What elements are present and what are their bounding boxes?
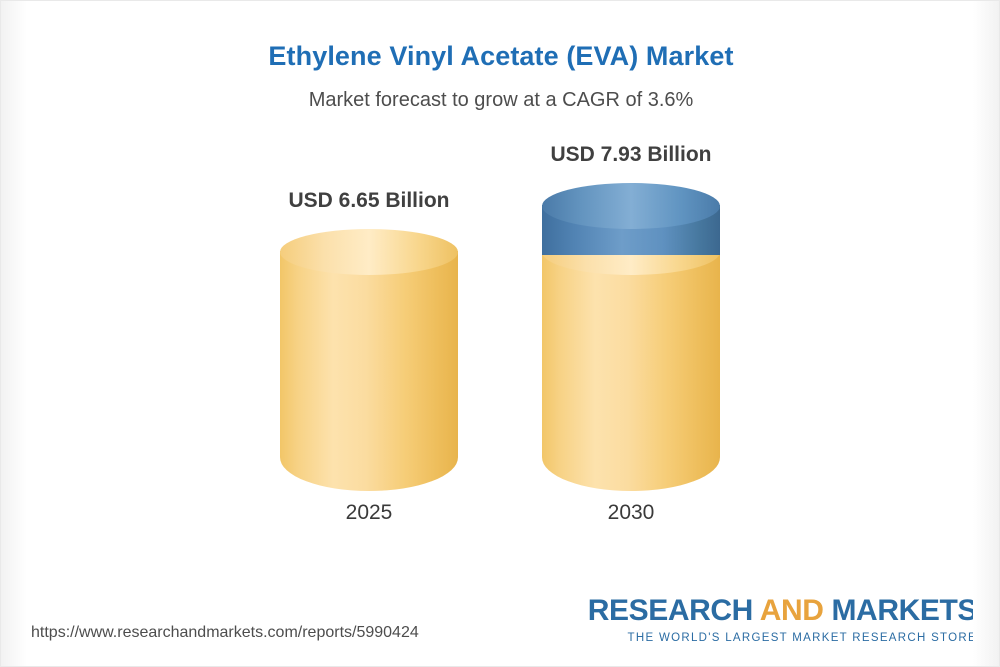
source-url[interactable]: https://www.researchandmarkets.com/repor… xyxy=(31,624,419,642)
chart-area: USD 6.65 Billion 2025 USD 7.93 Billion 2… xyxy=(1,141,1000,581)
brand-logo-markets: MARKETS xyxy=(824,594,977,627)
brand-logo-and: AND xyxy=(760,594,824,627)
cylinder-2025-body xyxy=(280,251,458,491)
bar-value-2025: USD 6.65 Billion xyxy=(249,189,489,213)
brand-logo-tagline: THE WORLD'S LARGEST MARKET RESEARCH STOR… xyxy=(588,633,977,645)
bar-group-2030: USD 7.93 Billion 2030 xyxy=(511,143,751,525)
brand-logo-wordmark: RESEARCH AND MARKETS xyxy=(588,596,977,626)
cylinder-2025-top xyxy=(280,229,458,275)
cylinder-2030-base-body xyxy=(542,251,720,491)
bar-value-2030: USD 7.93 Billion xyxy=(511,143,751,167)
brand-logo-research: RESEARCH xyxy=(588,594,760,627)
bar-label-2025: 2025 xyxy=(249,501,489,525)
bar-label-2030: 2030 xyxy=(511,501,751,525)
cylinder-2030 xyxy=(542,183,720,491)
chart-page: Ethylene Vinyl Acetate (EVA) Market Mark… xyxy=(0,0,1000,667)
brand-logo: RESEARCH AND MARKETS THE WORLD'S LARGEST… xyxy=(588,596,977,645)
page-subtitle: Market forecast to grow at a CAGR of 3.6… xyxy=(1,89,1000,112)
page-title: Ethylene Vinyl Acetate (EVA) Market xyxy=(1,41,1000,72)
cylinder-2025 xyxy=(280,229,458,491)
cylinder-2030-growth-top xyxy=(542,183,720,229)
bar-group-2025: USD 6.65 Billion 2025 xyxy=(249,189,489,525)
